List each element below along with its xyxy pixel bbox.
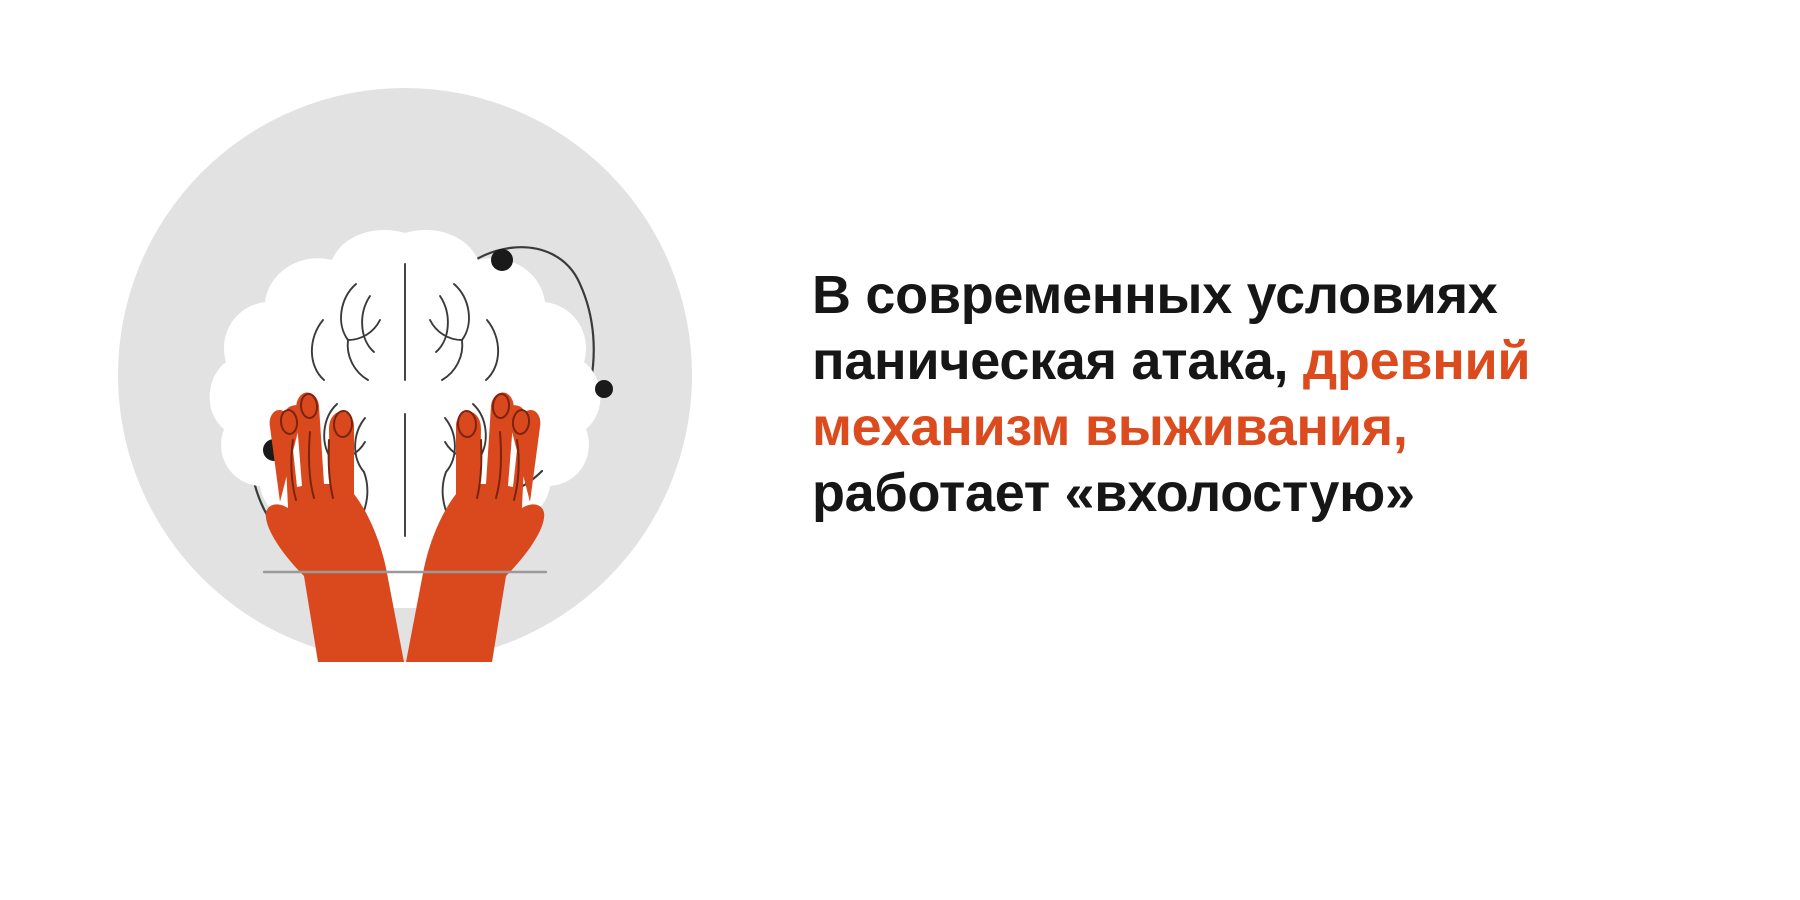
page-title: В современных условиях паническая атака,… [812,262,1532,526]
headline-text-block: В современных условиях паническая атака,… [812,262,1532,526]
orbit-dot-top-right [491,249,513,271]
hands-holding-brain-illustration [118,88,692,662]
orbit-dot-right [595,380,613,398]
headline-segment-plain-end: работает «вхолостую» [812,463,1415,523]
poster-canvas: В современных условиях паническая атака,… [0,0,1800,900]
